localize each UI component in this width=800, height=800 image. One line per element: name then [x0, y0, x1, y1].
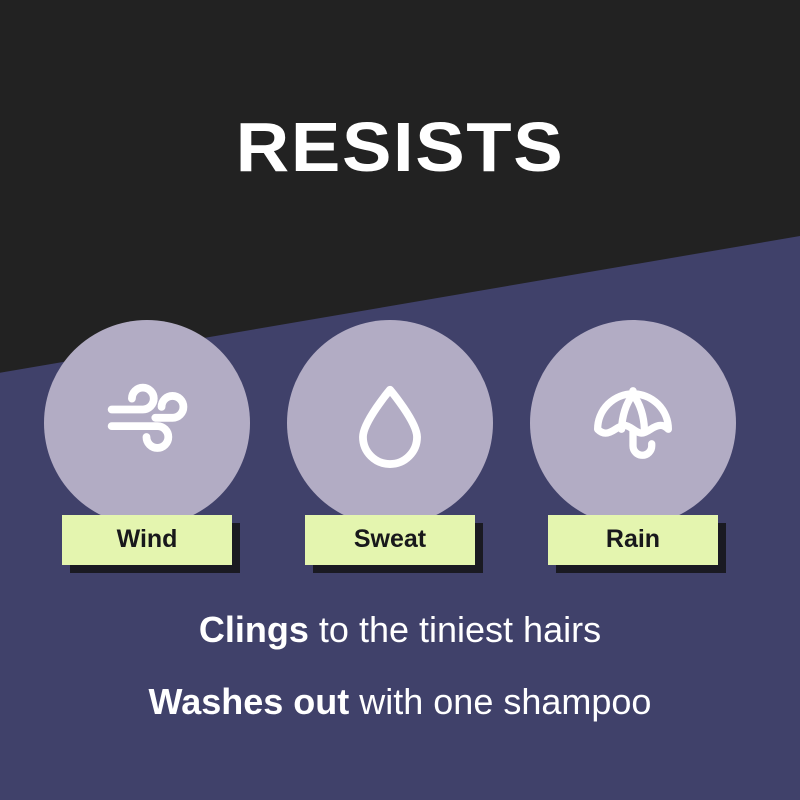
claim-rest: to the tiniest hairs [309, 609, 601, 650]
claim-line-washes-out: Washes out with one shampoo [0, 684, 800, 720]
chip-wrap-rain: Rain [548, 515, 718, 565]
umbrella-icon [581, 371, 685, 475]
feature-label-rain: Rain [548, 515, 718, 565]
feature-label-sweat: Sweat [305, 515, 475, 565]
feature-item-sweat: Sweat [287, 320, 493, 560]
claims-block: Clings to the tiniest hairs Washes out w… [0, 612, 800, 720]
feature-label-wind: Wind [62, 515, 232, 565]
chip-wrap-wind: Wind [62, 515, 232, 565]
wind-icon [95, 371, 199, 475]
resists-feature-card: RESISTS Wind [0, 0, 800, 800]
feature-icon-row: Wind Sweat [0, 320, 800, 560]
claim-strong: Washes out [149, 681, 350, 722]
feature-item-wind: Wind [44, 320, 250, 560]
water-droplet-icon [338, 371, 442, 475]
page-title: RESISTS [0, 112, 800, 182]
icon-circle-sweat [287, 320, 493, 526]
feature-item-rain: Rain [530, 320, 736, 560]
chip-wrap-sweat: Sweat [305, 515, 475, 565]
icon-circle-rain [530, 320, 736, 526]
claim-rest: with one shampoo [349, 681, 651, 722]
claim-line-clings: Clings to the tiniest hairs [0, 612, 800, 648]
icon-circle-wind [44, 320, 250, 526]
claim-strong: Clings [199, 609, 309, 650]
